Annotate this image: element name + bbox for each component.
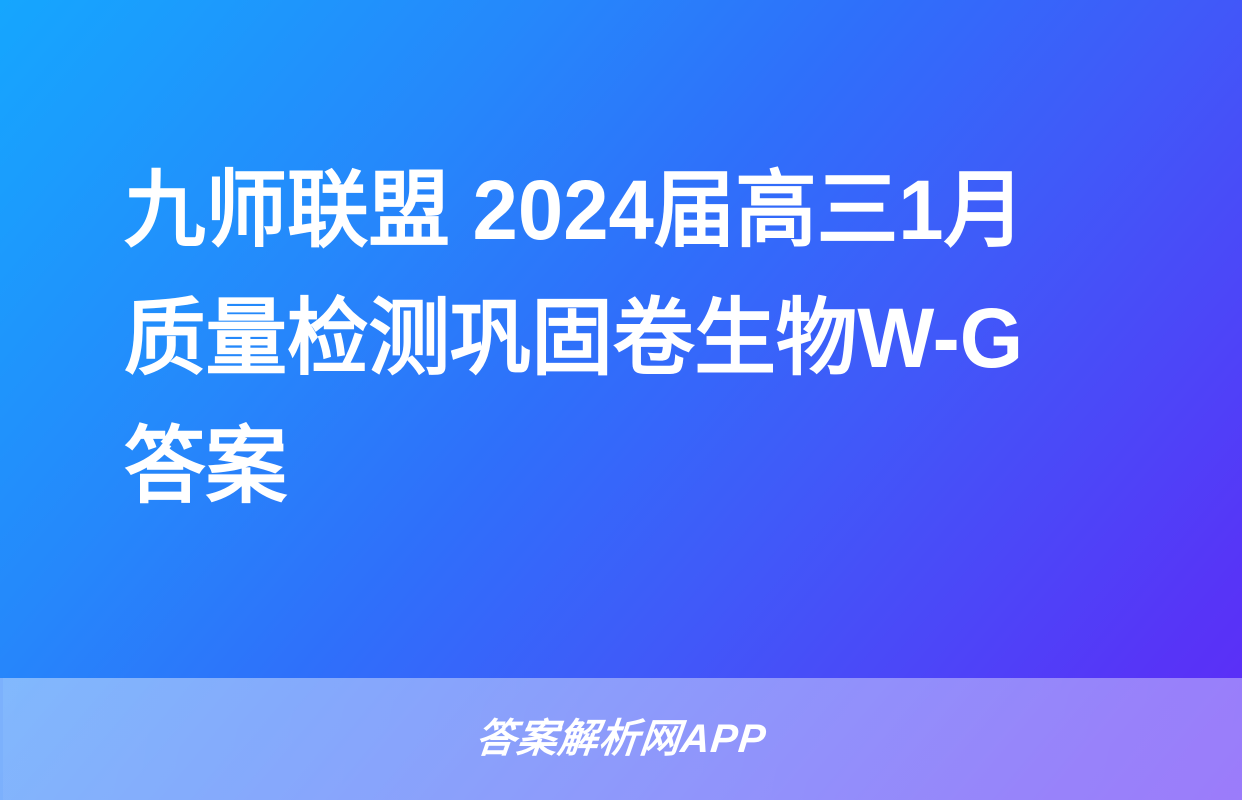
footer-watermark-band: 答案解析网APP — [0, 678, 1242, 800]
page-title: 九师联盟 2024届高三1月质量检测巩固卷生物W-G答案 — [124, 147, 1088, 530]
poster-canvas: 九师联盟 2024届高三1月质量检测巩固卷生物W-G答案 答案解析网APP — [0, 0, 1242, 800]
app-watermark-label: 答案解析网APP — [474, 719, 768, 759]
title-area: 九师联盟 2024届高三1月质量检测巩固卷生物W-G答案 — [0, 0, 1242, 678]
